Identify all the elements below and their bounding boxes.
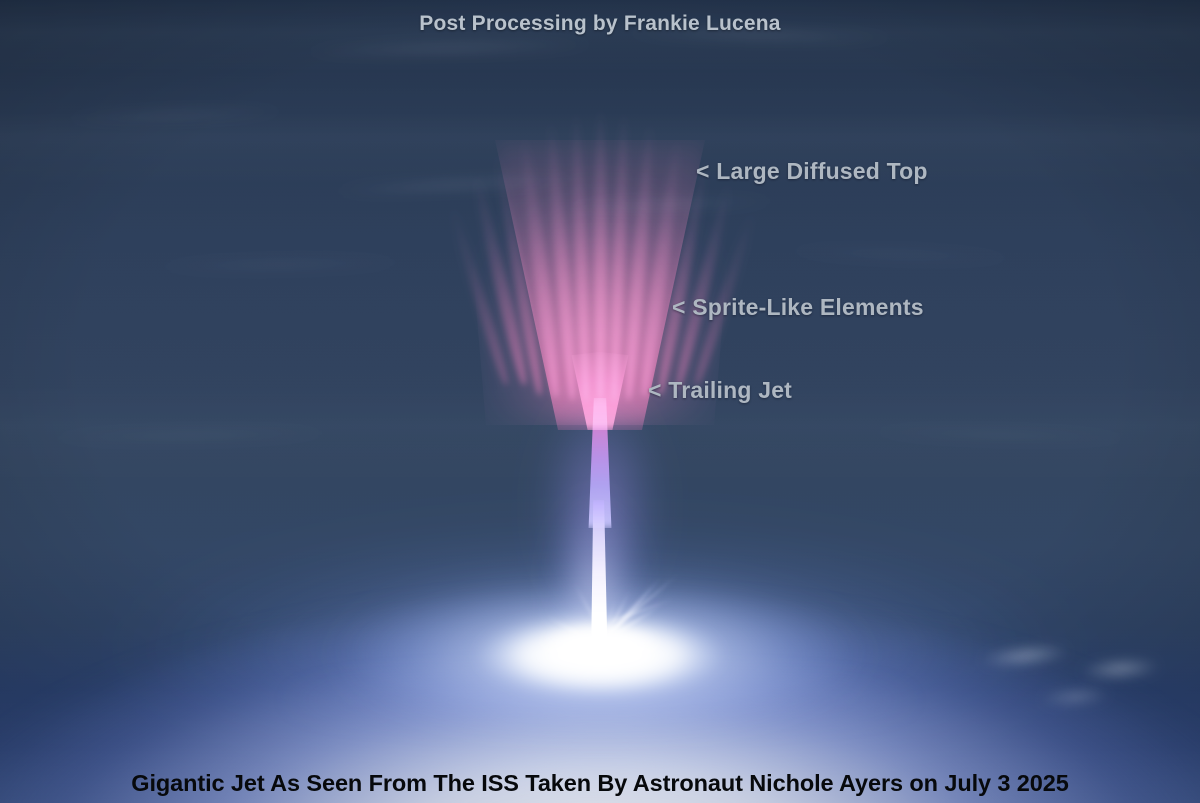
sprite-tendril <box>469 174 530 386</box>
gigantic-jet <box>0 0 1200 803</box>
sprite-tendril <box>672 183 734 390</box>
image-canvas: Post Processing by Frankie Lucena < Larg… <box>0 0 1200 803</box>
sprite-tendril <box>447 206 512 386</box>
caption-text: Gigantic Jet As Seen From The ISS Taken … <box>0 770 1200 797</box>
sprite-tendril <box>637 139 685 397</box>
sprite-tendril <box>492 153 546 396</box>
annotation-sprite-like-elements: < Sprite-Like Elements <box>672 294 924 321</box>
credit-text: Post Processing by Frankie Lucena <box>0 12 1200 36</box>
annotation-large-diffused-top: < Large Diffused Top <box>696 158 928 185</box>
sprite-tendril <box>654 158 712 396</box>
annotation-trailing-jet: < Trailing Jet <box>648 377 792 404</box>
sprite-tendril <box>517 136 563 398</box>
